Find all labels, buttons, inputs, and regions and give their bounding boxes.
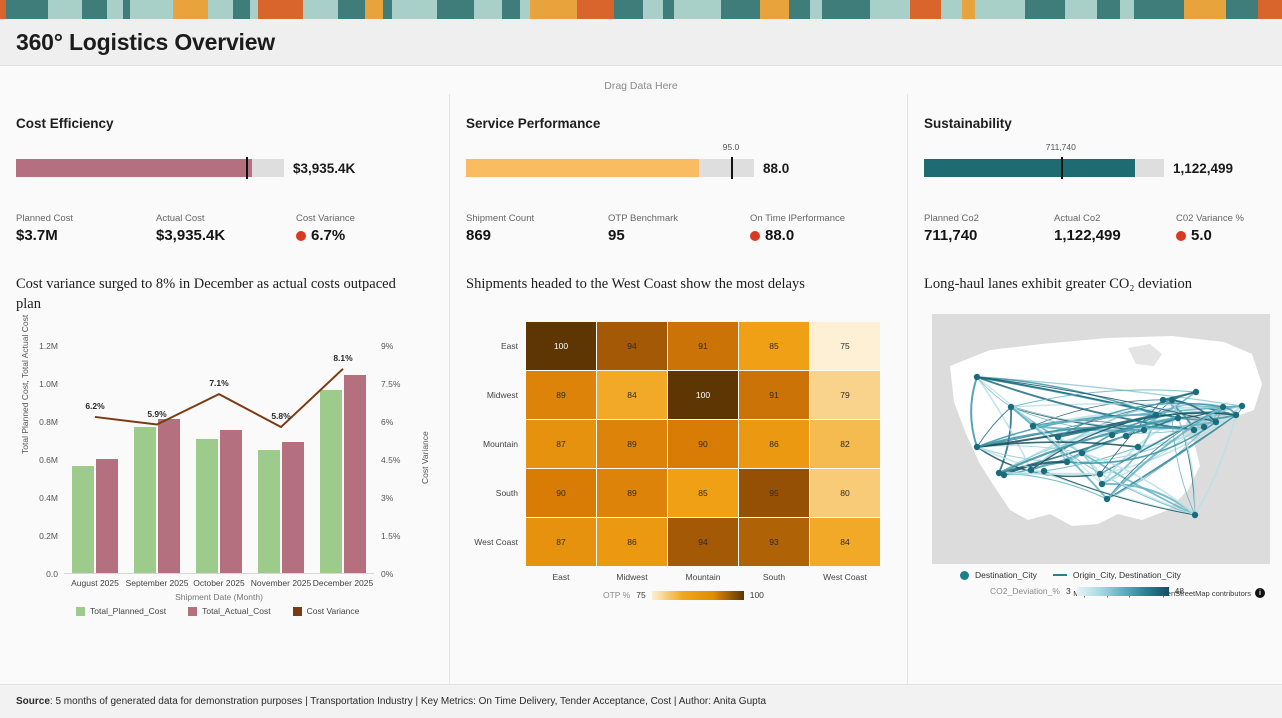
combo-line-data-label: 6.2%: [85, 401, 104, 411]
kpi-label: C02 Variance %: [1176, 213, 1244, 224]
kpi-label: Shipment Count: [466, 213, 608, 224]
map-destination-point[interactable]: [1104, 496, 1110, 502]
bullet-target-label: 711,740: [1046, 142, 1076, 152]
status-dot-icon: [750, 231, 760, 241]
heatmap-column-label: West Coast: [823, 572, 867, 582]
combo-x-tick: October 2025: [193, 578, 245, 588]
info-icon[interactable]: i: [1255, 588, 1265, 598]
combo-x-tick: August 2025: [71, 578, 119, 588]
combo-y-tick-right: 1.5%: [381, 531, 400, 541]
heatmap-cell[interactable]: 89: [597, 420, 667, 468]
heatmap-cell[interactable]: 79: [810, 371, 880, 419]
kpi-co2-variance: C02 Variance % 5.0: [1176, 213, 1244, 244]
kpi-label: Planned Cost: [16, 213, 156, 224]
combo-line-data-label: 7.1%: [209, 378, 228, 388]
combo-y-tick: 0.4M: [39, 493, 58, 503]
heatmap-grid: 100East9491857589Midwest84100917987Mount…: [526, 322, 880, 566]
map-canvas[interactable]: [932, 314, 1270, 564]
map-legend-label: Destination_City: [975, 570, 1037, 580]
map-destination-point[interactable]: [974, 374, 980, 380]
combo-legend: Total_Planned_CostTotal_Actual_CostCost …: [76, 606, 359, 616]
bullet-fill: [16, 159, 252, 177]
heatmap-row-label: West Coast: [474, 537, 518, 547]
heatmap-cell[interactable]: 100East: [526, 322, 596, 370]
combo-legend-label: Cost Variance: [307, 606, 360, 616]
heatmap-cell[interactable]: 89Midwest: [526, 371, 596, 419]
heatmap-cell[interactable]: 91: [668, 322, 738, 370]
service-performance-viz: 100East9491857589Midwest84100917987Mount…: [466, 314, 891, 684]
kpi-value: 88.0: [765, 227, 794, 244]
heatmap-cell[interactable]: 80: [810, 469, 880, 517]
combo-line-data-label: 8.1%: [333, 353, 352, 363]
banner-pattern: [0, 0, 1282, 19]
legend-swatch-icon: [76, 607, 85, 616]
heatmap-column-label: East: [552, 572, 569, 582]
bullet-fill: [466, 159, 699, 177]
bullet-target-marker: [731, 157, 733, 179]
heatmap-color-scale: [652, 591, 744, 600]
map-destination-point[interactable]: [1192, 512, 1198, 518]
map-destination-point[interactable]: [1109, 432, 1115, 438]
kpi-value-with-status: 88.0: [750, 227, 845, 244]
combo-x-tick: September 2025: [126, 578, 189, 588]
kpi-value: 1,122,499: [1054, 227, 1176, 244]
map-destination-point[interactable]: [1097, 471, 1103, 477]
combo-y-tick-right: 3%: [381, 493, 393, 503]
kpi-label: OTP Benchmark: [608, 213, 750, 224]
map-gradient-legend: CO2_Deviation_% 3 48: [990, 586, 1184, 596]
legend-swatch-icon: [293, 607, 302, 616]
map-legend-destination: Destination_City: [960, 570, 1037, 580]
kpi-value: 6.7%: [311, 227, 345, 244]
map-destination-point[interactable]: [1193, 389, 1199, 395]
combo-x-tick: November 2025: [251, 578, 311, 588]
map-legend-route: Origin_City, Destination_City: [1053, 570, 1181, 580]
map-gradient-title: CO2_Deviation_%: [990, 586, 1060, 596]
heatmap-cell[interactable]: 93: [739, 518, 809, 566]
heatmap-cell[interactable]: 91: [739, 371, 809, 419]
cost-combo-chart[interactable]: Total Planned Cost, Total Actual Cost Co…: [16, 334, 433, 624]
service-performance-insight: Shipments headed to the West Coast show …: [466, 274, 866, 294]
map-destination-point[interactable]: [1008, 404, 1014, 410]
heatmap-cell[interactable]: 95: [739, 469, 809, 517]
map-destination-point[interactable]: [1169, 397, 1175, 403]
dashboard-columns: Cost Efficiency $3,935.4K Planned Cost: [0, 94, 1282, 684]
map-gradient-max: 48: [1175, 586, 1184, 596]
map-graphics: [932, 314, 1270, 564]
heatmap-legend: OTP % 75 100: [603, 590, 764, 600]
kpi-value: 869: [466, 227, 608, 244]
map-gradient-min: 3: [1066, 586, 1071, 596]
dashboard-header: 360° Logistics Overview: [0, 19, 1282, 66]
kpi-label: Actual Cost: [156, 213, 296, 224]
kpi-label: Planned Co2: [924, 213, 1054, 224]
combo-line-data-label: 5.9%: [147, 409, 166, 419]
drag-data-here-hint[interactable]: Drag Data Here: [0, 66, 1282, 94]
heatmap-cell[interactable]: 89: [597, 469, 667, 517]
map-color-scale: [1077, 587, 1169, 596]
combo-y-tick-right: 7.5%: [381, 379, 400, 389]
cost-efficiency-insight: Cost variance surged to 8% in December a…: [16, 274, 416, 314]
heatmap-legend-title: OTP %: [603, 590, 630, 600]
bullet-target-label: 95.0: [723, 142, 740, 152]
kpi-value-with-status: 6.7%: [296, 227, 355, 244]
combo-y-tick: 1.2M: [39, 341, 58, 351]
map-destination-point[interactable]: [1079, 450, 1085, 456]
sustainability-viz: MapLibre | © MapTiler © OpenStreetMap co…: [924, 314, 1266, 684]
page-title: 360° Logistics Overview: [16, 29, 275, 56]
heatmap-cell[interactable]: 87Mountain: [526, 420, 596, 468]
map-destination-point[interactable]: [1041, 468, 1047, 474]
combo-y-tick: 0.6M: [39, 455, 58, 465]
map-destination-point[interactable]: [1141, 427, 1147, 433]
heatmap-cell[interactable]: 100: [668, 371, 738, 419]
legend-swatch-icon: [188, 607, 197, 616]
service-performance-kpis: Shipment Count 869 OTP Benchmark 95 On T…: [466, 213, 891, 244]
map-destination-point[interactable]: [1055, 434, 1061, 440]
combo-y-tick: 0.0: [46, 569, 58, 579]
panel-service-performance: Service Performance 95.0 88.0 Shipment C…: [449, 94, 907, 684]
combo-legend-label: Total_Actual_Cost: [202, 606, 271, 616]
sustainability-bullet-value: 1,122,499: [1173, 161, 1233, 176]
map-destination-point[interactable]: [1213, 419, 1219, 425]
combo-y-tick: 0.2M: [39, 531, 58, 541]
status-dot-icon: [1176, 231, 1186, 241]
heatmap-scale-min: 75: [636, 590, 645, 600]
combo-x-tick: December 2025: [313, 578, 373, 588]
kpi-shipment-count: Shipment Count 869: [466, 213, 608, 244]
kpi-value: $3,935.4K: [156, 227, 296, 244]
heatmap-column-label: Midwest: [616, 572, 647, 582]
combo-y-tick-right: 0%: [381, 569, 393, 579]
map-destination-point[interactable]: [1135, 444, 1141, 450]
kpi-actual-cost: Actual Cost $3,935.4K: [156, 213, 296, 244]
map-destination-point[interactable]: [1123, 433, 1129, 439]
map-point-icon: [960, 571, 969, 580]
heatmap-row-label: Mountain: [483, 439, 518, 449]
heatmap-column-label: South: [763, 572, 785, 582]
heatmap-cell[interactable]: 86: [739, 420, 809, 468]
combo-y-tick-right: 6%: [381, 417, 393, 427]
heatmap-cell[interactable]: 84: [597, 371, 667, 419]
heatmap-cell[interactable]: 85: [739, 322, 809, 370]
dashboard-body: Drag Data Here Cost Efficiency $3,935.4K: [0, 66, 1282, 684]
panel-sustainability: Sustainability 711,740 1,122,499 Planned…: [907, 94, 1282, 684]
status-dot-icon: [296, 231, 306, 241]
heatmap-cell[interactable]: 90South: [526, 469, 596, 517]
decorative-banner: [0, 0, 1282, 19]
sustainability-kpis: Planned Co2 711,740 Actual Co2 1,122,499…: [924, 213, 1266, 244]
heatmap-row-label: East: [501, 341, 518, 351]
cost-efficiency-viz: Total Planned Cost, Total Actual Cost Co…: [16, 334, 433, 684]
combo-y-tick: 1.0M: [39, 379, 58, 389]
heatmap-cell[interactable]: 87West Coast: [526, 518, 596, 566]
map-destination-point[interactable]: [1099, 481, 1105, 487]
panel-cost-efficiency: Cost Efficiency $3,935.4K Planned Cost: [0, 94, 449, 684]
combo-legend-item[interactable]: Total_Planned_Cost: [76, 606, 166, 616]
map-destination-point[interactable]: [1201, 424, 1207, 430]
combo-y-axis-right-label: Cost Variance: [420, 431, 430, 484]
sustainability-bullet-chart[interactable]: 711,740 1,122,499: [924, 153, 1266, 183]
map-line-icon: [1053, 574, 1067, 577]
kpi-planned-cost: Planned Cost $3.7M: [16, 213, 156, 244]
bullet-track: 711,740: [924, 159, 1164, 177]
heatmap-cell[interactable]: 82: [810, 420, 880, 468]
map-destination-point[interactable]: [1191, 427, 1197, 433]
combo-y-tick-right: 9%: [381, 341, 393, 351]
heatmap-scale-max: 100: [750, 590, 764, 600]
heatmap-cell[interactable]: 84: [810, 518, 880, 566]
map-destination-point[interactable]: [1030, 423, 1036, 429]
footer-source-text: : 5 months of generated data for demonst…: [50, 696, 766, 707]
bullet-track: [16, 159, 284, 177]
otp-heatmap-chart[interactable]: 100East9491857589Midwest84100917987Mount…: [466, 314, 886, 604]
kpi-value: 95: [608, 227, 750, 244]
kpi-value: $3.7M: [16, 227, 156, 244]
kpi-value-with-status: 5.0: [1176, 227, 1244, 244]
bullet-target-marker: [246, 157, 248, 179]
service-performance-bullet-chart[interactable]: 95.0 88.0: [466, 153, 891, 183]
heatmap-cell[interactable]: 85: [668, 469, 738, 517]
combo-y-tick: 0.8M: [39, 417, 58, 427]
heatmap-cell[interactable]: 90: [668, 420, 738, 468]
sustainability-insight: Long-haul lanes exhibit greater CO₂ devi…: [924, 274, 1266, 294]
kpi-value: 5.0: [1191, 227, 1212, 244]
kpi-value: 711,740: [924, 227, 1054, 244]
combo-legend-item[interactable]: Total_Actual_Cost: [188, 606, 271, 616]
kpi-label: Cost Variance: [296, 213, 355, 224]
kpi-on-time-performance: On Time lPerformance 88.0: [750, 213, 845, 244]
map-destination-point[interactable]: [1239, 403, 1245, 409]
heatmap-cell[interactable]: 75: [810, 322, 880, 370]
cost-efficiency-bullet-value: $3,935.4K: [293, 161, 355, 176]
map-destination-point[interactable]: [1001, 472, 1007, 478]
combo-legend-label: Total_Planned_Cost: [90, 606, 166, 616]
map-destination-point[interactable]: [1233, 412, 1239, 418]
bullet-target-marker: [1061, 157, 1063, 179]
cost-efficiency-title: Cost Efficiency: [16, 116, 433, 131]
combo-y-tick-right: 4.5%: [381, 455, 400, 465]
kpi-actual-co2: Actual Co2 1,122,499: [1054, 213, 1176, 244]
kpi-cost-variance: Cost Variance 6.7%: [296, 213, 355, 244]
sustainability-title: Sustainability: [924, 116, 1266, 131]
kpi-planned-co2: Planned Co2 711,740: [924, 213, 1054, 244]
heatmap-cell[interactable]: 94: [597, 322, 667, 370]
map-destination-point[interactable]: [1160, 397, 1166, 403]
heatmap-cell[interactable]: 86: [597, 518, 667, 566]
map-destination-point[interactable]: [1153, 412, 1159, 418]
dashboard-page: 360° Logistics Overview Drag Data Here C…: [0, 0, 1282, 718]
cost-efficiency-bullet-chart[interactable]: $3,935.4K: [16, 153, 433, 183]
map-destination-point[interactable]: [1028, 467, 1034, 473]
combo-line-data-label: 5.8%: [271, 411, 290, 421]
map-legend: Destination_City Origin_City, Destinatio…: [960, 570, 1181, 580]
kpi-label: On Time lPerformance: [750, 213, 845, 224]
service-performance-title: Service Performance: [466, 116, 891, 131]
map-destination-point[interactable]: [974, 444, 980, 450]
bullet-track: 95.0: [466, 159, 754, 177]
kpi-otp-benchmark: OTP Benchmark 95: [608, 213, 750, 244]
dashboard-footer: Source: 5 months of generated data for d…: [0, 684, 1282, 718]
combo-x-axis-title: Shipment Date (Month): [175, 592, 263, 602]
heatmap-cell[interactable]: 94: [668, 518, 738, 566]
heatmap-row-label: South: [496, 488, 518, 498]
co2-route-map[interactable]: MapLibre | © MapTiler © OpenStreetMap co…: [924, 314, 1269, 604]
map-destination-point[interactable]: [1064, 459, 1070, 465]
service-performance-bullet-value: 88.0: [763, 161, 789, 176]
map-destination-point[interactable]: [1220, 404, 1226, 410]
map-route-line: [999, 473, 1100, 474]
heatmap-column-label: Mountain: [686, 572, 721, 582]
bullet-fill: [924, 159, 1135, 177]
combo-legend-item[interactable]: Cost Variance: [293, 606, 360, 616]
heatmap-row-label: Midwest: [487, 390, 518, 400]
kpi-label: Actual Co2: [1054, 213, 1176, 224]
combo-y-axis-label: Total Planned Cost, Total Actual Cost: [20, 315, 30, 454]
map-legend-label: Origin_City, Destination_City: [1073, 570, 1181, 580]
map-destination-point[interactable]: [1175, 415, 1181, 421]
footer-source-label: Source: [16, 696, 50, 707]
cost-efficiency-kpis: Planned Cost $3.7M Actual Cost $3,935.4K…: [16, 213, 433, 244]
